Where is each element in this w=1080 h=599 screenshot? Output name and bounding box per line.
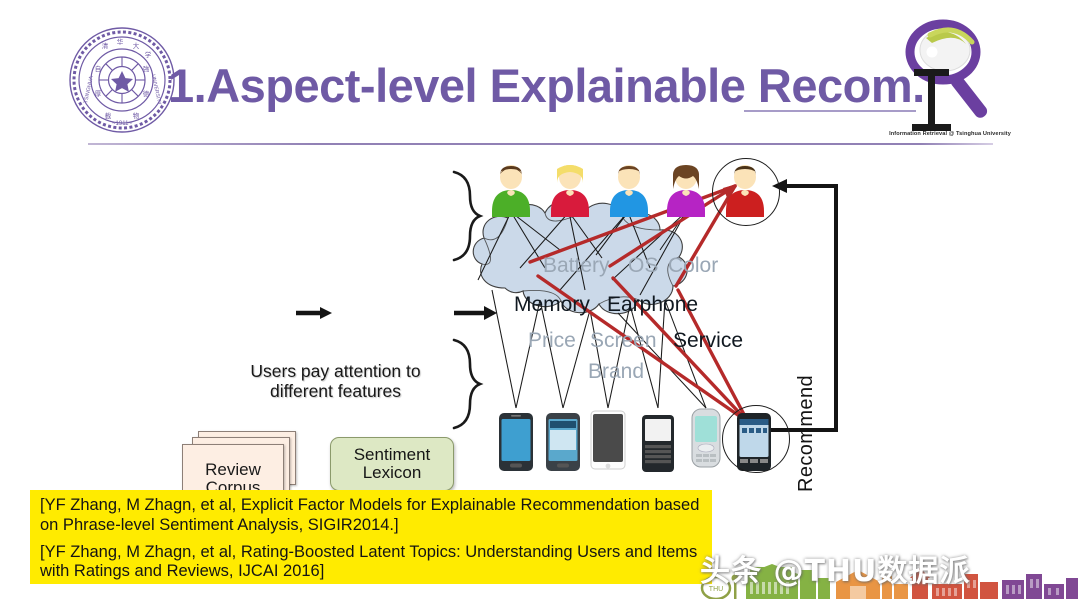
sentiment-lexicon-node: Sentiment Lexicon <box>330 437 454 491</box>
sentiment-lexicon-label: Sentiment Lexicon <box>354 446 431 483</box>
citation-box: [YF Zhang, M Zhagn, et al, Explicit Fact… <box>30 490 712 584</box>
review-corpus-line1: Review <box>183 461 283 479</box>
item-phone-2 <box>545 412 581 472</box>
aspect-color: Color <box>668 254 718 278</box>
svg-text:清: 清 <box>102 41 109 50</box>
lab-logo-caption: Information Retrieval @ Tsinghua Univers… <box>880 131 1020 137</box>
item-phone-4 <box>640 414 676 474</box>
aspect-price: Price <box>528 329 576 353</box>
brace-items <box>454 340 480 428</box>
aspect-battery: Battery <box>543 254 610 278</box>
user-avatar-3 <box>606 163 652 219</box>
magnifying-glass-icon <box>888 16 1016 136</box>
highlight-circle-item <box>722 405 790 473</box>
aspect-brand: Brand <box>588 360 644 384</box>
item-phone-3 <box>590 410 626 470</box>
citation-1: [YF Zhang, M Zhagn, et al, Explicit Fact… <box>40 496 702 536</box>
highlight-circle-user <box>712 158 780 226</box>
item-phone-5 <box>688 408 724 468</box>
citation-2: [YF Zhang, M Zhagn, et al, Rating-Booste… <box>40 543 702 583</box>
svg-text:学: 学 <box>145 50 152 59</box>
svg-text:載: 載 <box>105 111 112 120</box>
aspect-earphone: Earphone <box>607 293 698 317</box>
svg-text:自: 自 <box>95 64 102 73</box>
tsinghua-seal-icon: 清华大学 自強 厚德 載物 ~1911~ TSINGHUA UNIVERSITY <box>68 26 176 134</box>
slide-canvas: 清华大学 自強 厚德 載物 ~1911~ TSINGHUA UNIVERSITY… <box>0 0 1080 599</box>
architecture-diagram: Battery OS Color Memory Earphone Price S… <box>0 150 1080 480</box>
users-annotation-line1: Users pay attention to <box>228 362 443 382</box>
aspect-memory: Memory <box>514 293 590 317</box>
svg-text:华: 华 <box>117 37 124 46</box>
svg-text:物: 物 <box>133 111 140 120</box>
sentiment-lexicon-line2: Lexicon <box>354 464 431 482</box>
svg-text:強: 強 <box>143 65 150 73</box>
svg-text:大: 大 <box>133 41 140 50</box>
aspect-os: OS <box>628 254 658 278</box>
user-avatar-1 <box>488 163 534 219</box>
aspect-service: Service <box>673 329 743 353</box>
user-avatar-2 <box>547 163 593 219</box>
svg-text:德: 德 <box>143 89 150 98</box>
sentiment-lexicon-line1: Sentiment <box>354 446 431 464</box>
header-divider <box>88 143 993 145</box>
item-phone-1 <box>498 412 534 472</box>
svg-text:TSINGHUA: TSINGHUA <box>83 75 95 104</box>
svg-text:~1911~: ~1911~ <box>112 121 132 127</box>
arrow-corpus-to-lexicon <box>296 307 332 319</box>
recommend-label: Recommend <box>795 375 818 492</box>
arrow-lexicon-to-cloud <box>454 306 497 320</box>
aspect-screen: Screen <box>590 329 657 353</box>
users-annotation: Users pay attention to different feature… <box>228 362 443 401</box>
watermark-text: 头条 @THU数据派 <box>700 546 970 590</box>
user-avatar-4 <box>663 163 709 219</box>
users-annotation-line2: different features <box>228 382 443 402</box>
page-title: 1.Aspect-level Explainable Recom. <box>168 58 925 113</box>
svg-text:厚: 厚 <box>95 90 102 98</box>
